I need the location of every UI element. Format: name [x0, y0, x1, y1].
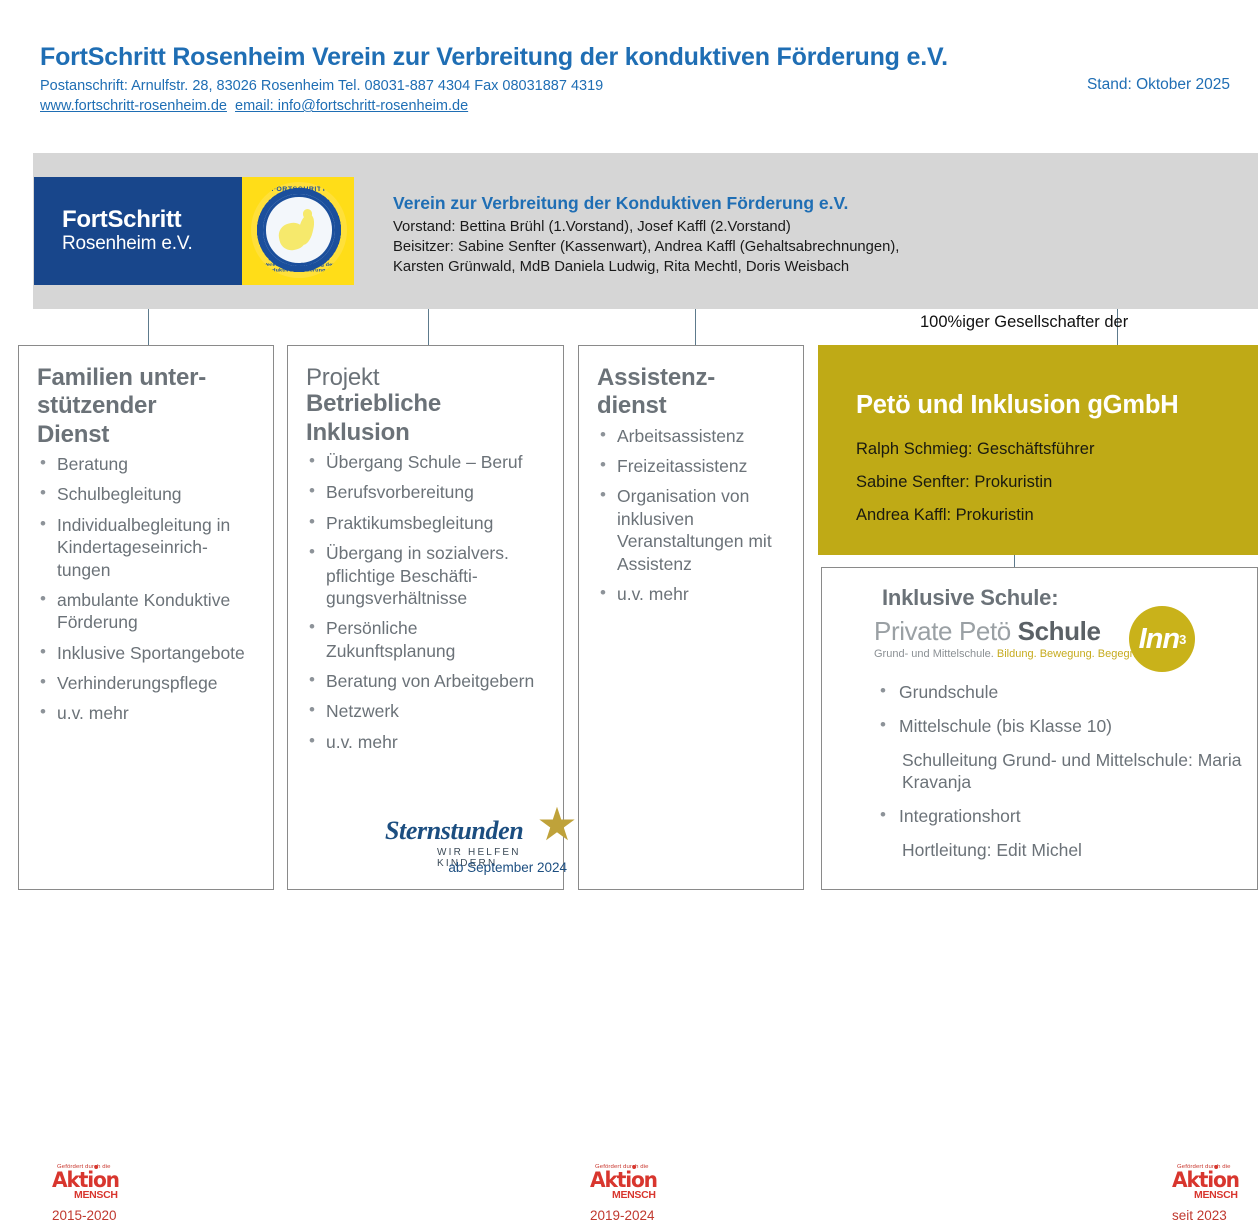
emblem-bottom-text: Verein zur Verbreitung der Konduktiven F… — [251, 263, 347, 274]
fortschritt-logo: FortSchritt Rosenheim e.V. FORTSCHRITT V… — [34, 177, 354, 285]
emblem-ring-text: FORTSCHRITT Verein zur Verbreitung der K… — [251, 182, 347, 278]
list-item: u.v. mehr — [37, 702, 259, 724]
inn-label: Inn — [1139, 623, 1180, 656]
list-item: u.v. mehr — [597, 583, 789, 605]
card-title: Familien unter- stützender Dienst — [37, 364, 259, 449]
board-line-vorstand: Vorstand: Bettina Brühl (1.Vorstand), Jo… — [393, 217, 1173, 237]
page-title: FortSchritt Rosenheim Verein zur Verbrei… — [40, 44, 1220, 72]
card-title: Betriebliche Inklusion — [306, 390, 549, 447]
board-text-block: Verein zur Verbreitung der Konduktiven F… — [393, 193, 1173, 277]
inn-circle-icon: Inn3 — [1129, 606, 1195, 672]
aktion-mensch-logo: Gefördert durch die Aktion MENSCH 2015-2… — [52, 1164, 122, 1223]
funding-period: 2019-2024 — [590, 1208, 660, 1223]
list-item: Schulbegleitung — [37, 483, 259, 505]
board-line-beisitzer-2: Karsten Grünwald, MdB Daniela Ludwig, Ri… — [393, 257, 1173, 277]
card-content: Assistenz- dienst Arbeitsassistenz Freiz… — [579, 346, 803, 605]
am-word-part1: Akt — [590, 1168, 625, 1192]
emblem-top-text: FORTSCHRITT — [251, 186, 347, 192]
gmbh-title: Petö und Inklusion gGmbH — [856, 391, 1178, 420]
list-item: Individualbegleitung in Kindertageseinri… — [37, 514, 259, 581]
school-tagline-gray: Grund- und Mittelschule. — [874, 648, 997, 660]
am-word-part1: Akt — [52, 1168, 87, 1192]
school-logo-light-part: Private Petö — [874, 616, 1018, 646]
card-content: Projekt Betriebliche Inklusion Übergang … — [288, 346, 563, 753]
school-logo-bold-part: Schule — [1018, 616, 1101, 646]
service-card-assistenzdienst: Assistenz- dienst Arbeitsassistenz Freiz… — [578, 345, 804, 890]
aktion-mensch-wordmark: Aktion — [1172, 1171, 1239, 1190]
contact-line: Postanschrift: Arnulfstr. 28, 83026 Rose… — [40, 77, 1220, 97]
card-list: Beratung Schulbegleitung Individualbegle… — [37, 453, 259, 725]
logo-emblem-panel: FORTSCHRITT Verein zur Verbreitung der K… — [242, 177, 354, 285]
links-line: www.fortschritt-rosenheim.de email: info… — [40, 97, 1220, 117]
list-item: Praktikumsbegleitung — [306, 512, 549, 534]
stand-date: Stand: Oktober 2025 — [1087, 76, 1230, 94]
am-word-part3: on — [1213, 1168, 1239, 1192]
am-word-part3: on — [631, 1168, 657, 1192]
am-word-part3: on — [93, 1168, 119, 1192]
sternstunden-logo: ★ Sternstunden WIR HELFEN KINDERN ab Sep… — [385, 818, 565, 869]
connector-line-col3 — [695, 309, 696, 345]
email-link[interactable]: email: info@fortschritt-rosenheim.de — [235, 98, 468, 114]
am-word-part1: Akt — [1172, 1168, 1207, 1192]
board-box: FortSchritt Rosenheim e.V. FORTSCHRITT V… — [33, 153, 1258, 309]
sternstunden-start-date: ab September 2024 — [448, 860, 567, 875]
board-line-beisitzer-1: Beisitzer: Sabine Senfter (Kassenwart), … — [393, 237, 1173, 257]
list-item: Übergang in sozialvers. pflichtige Besch… — [306, 542, 549, 609]
service-card-betriebliche-inklusion: Projekt Betriebliche Inklusion Übergang … — [287, 345, 564, 890]
gesellschafter-label: 100%iger Gesellschafter der — [920, 313, 1128, 332]
list-item: Freizeitassistenz — [597, 455, 789, 477]
gmbh-person-prokuristin-1: Sabine Senfter: Prokuristin — [856, 473, 1052, 492]
website-link[interactable]: www.fortschritt-rosenheim.de — [40, 98, 227, 114]
logo-name-line1: FortSchritt — [62, 207, 242, 232]
logo-wordmark-panel: FortSchritt Rosenheim e.V. — [34, 177, 242, 285]
am-word-part2: i — [1207, 1168, 1213, 1192]
connector-line-col2 — [428, 309, 429, 345]
gmbh-person-prokuristin-2: Andrea Kaffl: Prokuristin — [856, 506, 1034, 525]
inn-superscript: 3 — [1179, 632, 1185, 647]
card-title: Assistenz- dienst — [597, 364, 789, 421]
school-card: Inklusive Schule: Private Petö Schule Gr… — [821, 567, 1258, 890]
card-content: Familien unter- stützender Dienst Beratu… — [19, 346, 273, 725]
list-item: Integrationshort — [877, 805, 1247, 828]
am-word-part2: i — [87, 1168, 93, 1192]
school-title: Inklusive Schule: — [882, 585, 1058, 611]
list-item: Berufsvorbereitung — [306, 481, 549, 503]
school-list: Grundschule Mittelschule (bis Klasse 10)… — [877, 681, 1247, 873]
aktion-mensch-logo: Gefördert durch die Aktion MENSCH seit 2… — [1172, 1164, 1242, 1223]
private-peto-schule-logo: Private Petö Schule Grund- und Mittelsch… — [874, 618, 1224, 678]
service-card-familien-unterstuetzender-dienst: Familien unter- stützender Dienst Beratu… — [18, 345, 274, 890]
list-item: Persönliche Zukunftsplanung — [306, 617, 549, 662]
hort-leadership-note: Hortleitung: Edit Michel — [877, 839, 1247, 862]
list-item: ambulante Konduktive Förderung — [37, 589, 259, 634]
fortschritt-emblem-icon: FORTSCHRITT Verein zur Verbreitung der K… — [251, 182, 347, 278]
star-icon: ★ — [535, 802, 579, 846]
connector-line-col1 — [148, 309, 149, 345]
list-item: Beratung — [37, 453, 259, 475]
list-item: Verhinderungspflege — [37, 672, 259, 694]
list-item: Arbeitsassistenz — [597, 425, 789, 447]
list-item: Netzwerk — [306, 700, 549, 722]
aktion-mensch-wordmark: Aktion — [52, 1171, 119, 1190]
aktion-mensch-wordmark: Aktion — [590, 1171, 657, 1190]
list-item: Übergang Schule – Beruf — [306, 451, 549, 473]
list-item: Mittelschule (bis Klasse 10) — [877, 715, 1247, 738]
card-list: Arbeitsassistenz Freizeitassistenz Organ… — [597, 425, 789, 606]
board-title: Verein zur Verbreitung der Konduktiven F… — [393, 193, 1173, 215]
document-header: FortSchritt Rosenheim Verein zur Verbrei… — [40, 44, 1220, 117]
gmbh-person-geschaeftsfuehrer: Ralph Schmieg: Geschäftsführer — [856, 440, 1094, 459]
list-item: Beratung von Arbeitgebern — [306, 670, 549, 692]
funding-period: 2015-2020 — [52, 1208, 122, 1223]
list-item: Grundschule — [877, 681, 1247, 704]
aktion-mensch-logo: Gefördert durch die Aktion MENSCH 2019-2… — [590, 1164, 660, 1223]
funding-period: seit 2023 — [1172, 1208, 1242, 1223]
card-title-prefix: Projekt — [306, 364, 549, 392]
school-leadership-note: Schulleitung Grund- und Mittelschule: Ma… — [877, 749, 1247, 795]
list-item: Inklusive Sportangebote — [37, 642, 259, 664]
list-item: u.v. mehr — [306, 731, 549, 753]
list-item: Organisation von inklusiven Veranstaltun… — [597, 485, 789, 575]
card-list: Übergang Schule – Beruf Berufsvorbereitu… — [306, 451, 549, 753]
logo-name-line2: Rosenheim e.V. — [62, 233, 242, 255]
gmbh-card: Petö und Inklusion gGmbH Ralph Schmieg: … — [818, 345, 1258, 555]
am-word-part2: i — [625, 1168, 631, 1192]
